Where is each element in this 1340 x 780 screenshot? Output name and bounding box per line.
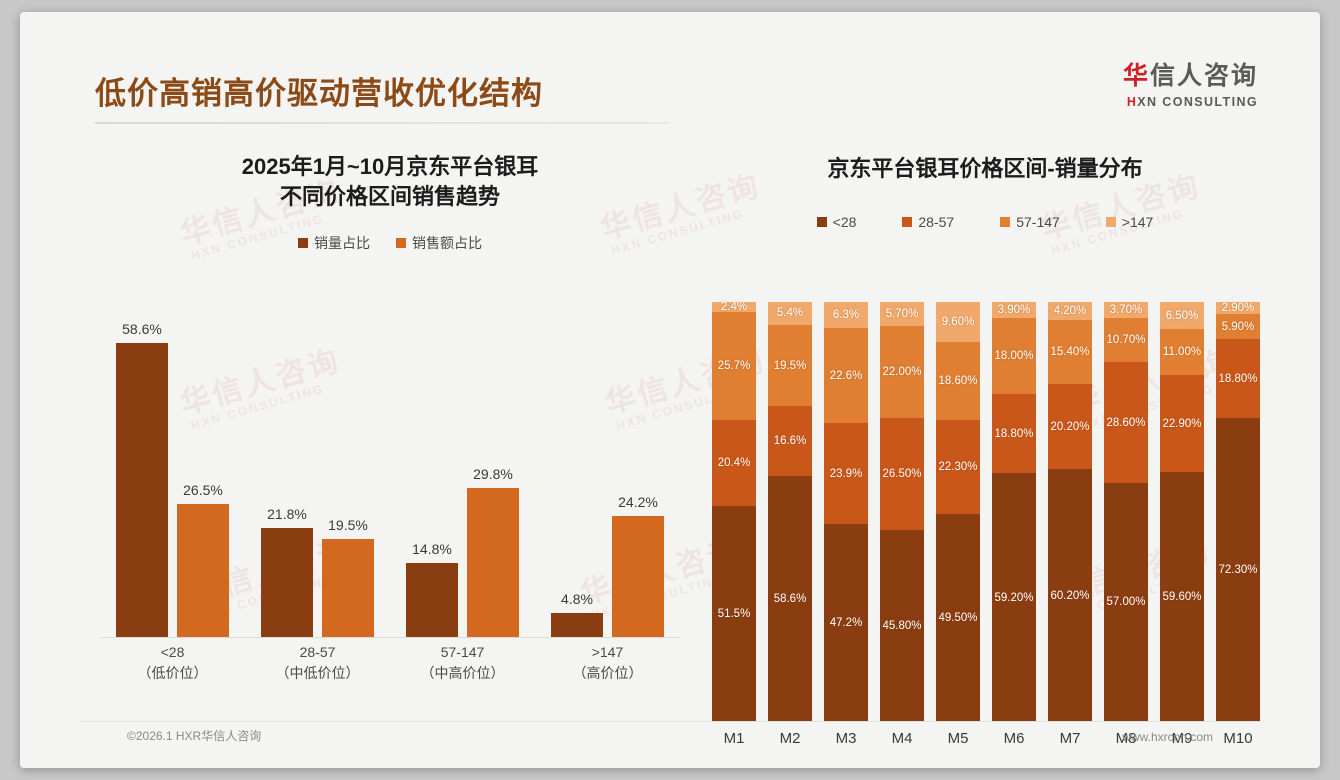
x-axis-label-sub: （低价位） [100,663,245,684]
legend-label: 销量占比 [314,233,370,253]
stacked-bar-segment[interactable]: 10.70% [1104,318,1148,363]
logo-chinese: 华信人咨询 [1123,64,1258,89]
x-axis-label-m7: M7 [1042,730,1098,747]
stacked-bar-segment[interactable]: 58.6% [768,476,812,722]
x-axis-label-range: 28-57 [300,644,336,660]
stacked-bar[interactable]: 3.70%10.70%28.60%57.00% [1104,302,1148,722]
stacked-bar-segment[interactable]: 45.80% [880,530,924,722]
stacked-bar-segment[interactable]: 2.90% [1216,302,1260,314]
stacked-bar-segment[interactable]: 15.40% [1048,320,1092,385]
segment-value-label: 72.30% [1218,564,1257,576]
segment-value-label: 5.90% [1222,321,1255,333]
stacked-bar-segment[interactable]: 11.00% [1160,329,1204,375]
stacked-bar-column: 4.20%15.40%20.20%60.20% [1042,302,1098,722]
legend-swatch-icon [817,217,827,227]
segment-value-label: 20.4% [718,457,751,469]
segment-value-label: 28.60% [1106,417,1145,429]
segment-value-label: 25.7% [718,360,751,372]
bar-value-label: 4.8% [561,591,593,607]
x-axis-label: >147（高价位） [535,642,680,684]
stacked-bar-segment[interactable]: 3.90% [992,302,1036,318]
legend-label: 销售额占比 [412,233,482,253]
x-axis-label-m1: M1 [706,730,762,747]
logo-english: HXN CONSULTING [1123,95,1258,109]
legend-swatch-icon [298,238,308,248]
segment-value-label: 22.90% [1162,418,1201,430]
stacked-bar-segment[interactable]: 9.60% [936,302,980,342]
stacked-bar-column: 3.70%10.70%28.60%57.00% [1098,302,1154,722]
footer-divider [80,721,1260,722]
legend-swatch-icon [902,217,912,227]
bar-amount[interactable]: 29.8% [467,488,519,637]
stacked-bar-column: 6.50%11.00%22.90%59.60% [1154,302,1210,722]
bar-group: 21.8%19.5% [245,326,390,637]
stacked-bar-segment[interactable]: 16.6% [768,406,812,476]
stacked-bar-segment[interactable]: 18.80% [992,394,1036,473]
stacked-bar-columns: 2.4%25.7%20.4%51.5%5.4%19.5%16.6%58.6%6.… [706,302,1266,722]
segment-value-label: 4.20% [1054,305,1087,317]
left-chart-panel: 2025年1月~10月京东平台银耳 不同价格区间销售趋势 销量占比 销售额占比 … [80,130,700,700]
bar-value-label: 58.6% [122,321,162,337]
segment-value-label: 26.50% [882,468,921,480]
x-axis-label-m2: M2 [762,730,818,747]
stacked-bar[interactable]: 5.4%19.5%16.6%58.6% [768,302,812,722]
slide: 华信人咨询 HXN CONSULTING 华信人咨询 HXN CONSULTIN… [20,12,1320,768]
grouped-bar-x-axis-labels: <28（低价位）28-57（中低价位）57-147（中高价位）>147（高价位） [100,642,680,684]
bar-value-label: 24.2% [618,494,658,510]
segment-value-label: 51.5% [718,608,751,620]
bar-amount[interactable]: 26.5% [177,504,229,637]
segment-value-label: 5.4% [777,307,803,319]
footer-copyright: ©2026.1 HXR华信人咨询 [127,727,261,744]
stacked-bar-segment[interactable]: 22.00% [880,326,924,418]
stacked-bar-column: 9.60%18.60%22.30%49.50% [930,302,986,722]
x-axis-label-m10: M10 [1210,730,1266,747]
segment-value-label: 45.80% [882,620,921,632]
segment-value-label: 22.00% [882,366,921,378]
bar-value-label: 21.8% [267,506,307,522]
stacked-bar-segment[interactable]: 18.00% [992,318,1036,394]
stacked-bar-segment[interactable]: 3.70% [1104,302,1148,318]
stacked-bar-segment[interactable]: 59.20% [992,473,1036,722]
x-axis-label-range: 57-147 [441,644,485,660]
right-chart-legend: <28 28-57 57-147 >147 [700,214,1270,230]
stacked-bar-segment[interactable]: 18.60% [936,342,980,420]
segment-value-label: 47.2% [830,617,863,629]
stacked-bar-segment[interactable]: 22.90% [1160,375,1204,471]
x-axis-label-m4: M4 [874,730,930,747]
segment-value-label: 18.80% [994,428,1033,440]
stacked-bar-segment[interactable]: 19.5% [768,325,812,407]
stacked-bar-segment[interactable]: 5.4% [768,302,812,325]
bar-amount[interactable]: 19.5% [322,539,374,637]
bar-volume[interactable]: 58.6% [116,343,168,637]
segment-value-label: 18.80% [1218,373,1257,385]
stacked-bar[interactable]: 3.90%18.00%18.80%59.20% [992,302,1036,722]
left-chart-title: 2025年1月~10月京东平台银耳 不同价格区间销售趋势 [80,130,700,211]
segment-value-label: 57.00% [1106,596,1145,608]
stacked-bar-segment[interactable]: 4.20% [1048,302,1092,320]
stacked-bar[interactable]: 6.50%11.00%22.90%59.60% [1160,302,1204,722]
segment-value-label: 59.20% [994,592,1033,604]
segment-value-label: 23.9% [830,468,863,480]
segment-value-label: 58.6% [774,593,807,605]
segment-value-label: 3.70% [1110,304,1143,316]
bar-group: 58.6%26.5% [100,326,245,637]
segment-value-label: 22.6% [830,370,863,382]
stacked-bar-segment[interactable]: 49.50% [936,514,980,722]
x-axis-label-range: >147 [592,644,624,660]
stacked-bar-segment[interactable]: 6.50% [1160,302,1204,329]
x-axis-line [100,637,680,638]
segment-value-label: 59.60% [1162,591,1201,603]
stacked-bar-segment[interactable]: 20.4% [712,420,756,506]
stacked-bar-segment[interactable]: 18.80% [1216,339,1260,418]
x-axis-label-sub: （高价位） [535,663,680,684]
segment-value-label: 2.90% [1222,302,1255,314]
stacked-bar-segment[interactable]: 25.7% [712,312,756,420]
bar-value-label: 29.8% [473,466,513,482]
stacked-bar-segment[interactable]: 23.9% [824,423,868,523]
bar-value-label: 19.5% [328,517,368,533]
stacked-bar[interactable]: 9.60%18.60%22.30%49.50% [936,302,980,722]
stacked-bar-column: 5.4%19.5%16.6%58.6% [762,302,818,722]
bar-group: 4.8%24.2% [535,326,680,637]
legend-swatch-icon [1106,217,1116,227]
grouped-bar-chart: 58.6%26.5%21.8%19.5%14.8%29.8%4.8%24.2% [100,326,680,638]
stacked-bar-segment[interactable]: 2.4% [712,302,756,312]
x-axis-label-sub: （中高价位） [390,663,535,684]
title-divider [95,122,670,124]
stacked-bar-segment[interactable]: 26.50% [880,418,924,529]
grouped-bar-groups: 58.6%26.5%21.8%19.5%14.8%29.8%4.8%24.2% [100,326,680,637]
x-axis-label-m6: M6 [986,730,1042,747]
segment-value-label: 49.50% [938,612,977,624]
left-chart-legend: 销量占比 销售额占比 [80,233,700,253]
logo-en-accent: H [1127,95,1137,109]
footer-website[interactable]: www.hxrcon.com [1122,730,1213,744]
legend-label: >147 [1122,214,1154,230]
logo-cn-accent: 华 [1123,62,1150,90]
stacked-bar[interactable]: 4.20%15.40%20.20%60.20% [1048,302,1092,722]
stacked-bar[interactable]: 5.70%22.00%26.50%45.80% [880,302,924,722]
stacked-bar-segment[interactable]: 28.60% [1104,362,1148,482]
logo-cn-rest: 信人咨询 [1150,62,1258,90]
x-axis-label: 28-57（中低价位） [245,642,390,684]
left-chart-title-line2: 不同价格区间销售趋势 [80,182,700,212]
stacked-bar[interactable]: 2.90%5.90%18.80%72.30% [1216,302,1260,722]
segment-value-label: 6.3% [833,309,859,321]
bar-value-label: 26.5% [183,482,223,498]
bar-volume[interactable]: 21.8% [261,528,313,637]
legend-item-28-57[interactable]: 28-57 [902,214,954,230]
bar-volume[interactable]: 4.8% [551,613,603,637]
stacked-bar-segment[interactable]: 47.2% [824,524,868,722]
stacked-bar-segment[interactable]: 22.30% [936,420,980,514]
segment-value-label: 10.70% [1106,334,1145,346]
x-axis-label-range: <28 [161,644,185,660]
right-chart-title: 京东平台银耳价格区间-销量分布 [700,130,1270,184]
legend-label: <28 [833,214,857,230]
stacked-bar-chart: 2.4%25.7%20.4%51.5%5.4%19.5%16.6%58.6%6.… [706,302,1266,768]
segment-value-label: 3.90% [998,304,1031,316]
stacked-bar-segment[interactable]: 6.3% [824,302,868,328]
x-axis-label-sub: （中低价位） [245,663,390,684]
left-chart-title-line1: 2025年1月~10月京东平台银耳 [80,152,700,182]
segment-value-label: 18.60% [938,375,977,387]
legend-label: 28-57 [918,214,954,230]
stacked-bar[interactable]: 6.3%22.6%23.9%47.2% [824,302,868,722]
segment-value-label: 5.70% [886,308,919,320]
bar-group: 14.8%29.8% [390,326,535,637]
right-chart-panel: 京东平台银耳价格区间-销量分布 <28 28-57 57-147 >147 2.… [700,130,1270,700]
company-logo: 华信人咨询 HXN CONSULTING [1123,64,1258,109]
stacked-bar-segment[interactable]: 22.6% [824,328,868,423]
stacked-bar-segment[interactable]: 5.90% [1216,314,1260,339]
segment-value-label: 22.30% [938,461,977,473]
bar-amount[interactable]: 24.2% [612,516,664,637]
stacked-bar-segment[interactable]: 51.5% [712,506,756,722]
stacked-bar-segment[interactable]: 59.60% [1160,472,1204,722]
segment-value-label: 19.5% [774,360,807,372]
x-axis-label: 57-147（中高价位） [390,642,535,684]
stacked-bar[interactable]: 2.4%25.7%20.4%51.5% [712,302,756,722]
legend-swatch-icon [396,238,406,248]
legend-label: 57-147 [1016,214,1060,230]
bar-volume[interactable]: 14.8% [406,563,458,637]
x-axis-label: <28（低价位） [100,642,245,684]
legend-item-over-147[interactable]: >147 [1106,214,1154,230]
stacked-bar-column: 5.70%22.00%26.50%45.80% [874,302,930,722]
stacked-bar-segment[interactable]: 20.20% [1048,384,1092,469]
stacked-bar-segment[interactable]: 60.20% [1048,469,1092,722]
legend-item-57-147[interactable]: 57-147 [1000,214,1060,230]
legend-item-sales-amount[interactable]: 销售额占比 [396,233,482,253]
segment-value-label: 20.20% [1050,421,1089,433]
segment-value-label: 9.60% [942,316,975,328]
segment-value-label: 11.00% [1163,346,1201,358]
segment-value-label: 6.50% [1166,310,1199,322]
segment-value-label: 18.00% [994,350,1033,362]
stacked-bar-segment[interactable]: 72.30% [1216,418,1260,722]
segment-value-label: 16.6% [774,435,807,447]
logo-en-rest: XN CONSULTING [1137,95,1258,109]
legend-swatch-icon [1000,217,1010,227]
segment-value-label: 60.20% [1050,590,1089,602]
x-axis-label-m3: M3 [818,730,874,747]
x-axis-label-m5: M5 [930,730,986,747]
stacked-bar-column: 6.3%22.6%23.9%47.2% [818,302,874,722]
page-title: 低价高销高价驱动营收优化结构 [95,68,543,113]
stacked-bar-column: 2.90%5.90%18.80%72.30% [1210,302,1266,722]
stacked-bar-segment[interactable]: 57.00% [1104,483,1148,722]
stacked-bar-segment[interactable]: 5.70% [880,302,924,326]
legend-item-under-28[interactable]: <28 [817,214,857,230]
stacked-bar-column: 2.4%25.7%20.4%51.5% [706,302,762,722]
segment-value-label: 15.40% [1050,346,1089,358]
slide-header: 低价高销高价驱动营收优化结构 华信人咨询 HXN CONSULTING [20,12,1320,124]
legend-item-sales-volume[interactable]: 销量占比 [298,233,370,253]
stacked-bar-column: 3.90%18.00%18.80%59.20% [986,302,1042,722]
bar-value-label: 14.8% [412,541,452,557]
